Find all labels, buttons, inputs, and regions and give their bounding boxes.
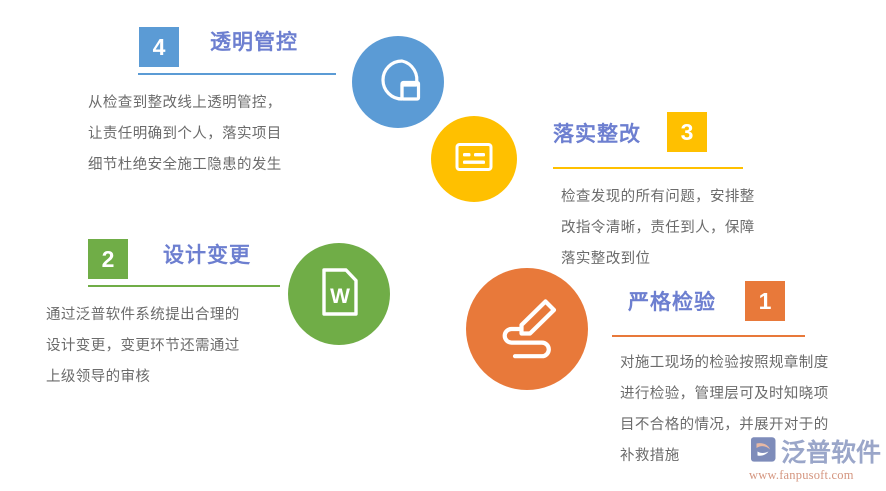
step-description-3-line-3: 落实整改到位 [561, 244, 755, 275]
step-description-2: 通过泛普软件系统提出合理的 设计变更，变更环节还需通过 上级领导的审核 [46, 300, 240, 393]
step-description-4: 从检查到整改线上透明管控， 让责任明确到个人，落实项目 细节杜绝安全施工隐患的发… [88, 88, 282, 181]
step-description-4-line-3: 细节杜绝安全施工隐患的发生 [88, 150, 282, 181]
step-title-2: 设计变更 [163, 245, 251, 266]
step-number-badge-3: 3 [667, 112, 707, 152]
step-description-4-line-1: 从检查到整改线上透明管控， [88, 88, 282, 119]
step-description-1-line-1: 对施工现场的检验按照规章制度 [620, 348, 829, 379]
watermark-brand-text: 泛普软件 [781, 440, 881, 465]
watermark-url: www.fanpusoft.com [749, 468, 882, 483]
step-description-4-line-2: 让责任明确到个人，落实项目 [88, 119, 282, 150]
pie-chart-square-icon [372, 54, 424, 111]
step-divider-2 [88, 285, 280, 287]
pencil-sign-icon [489, 289, 565, 370]
watermark-brand-row: 泛普软件 [748, 437, 882, 467]
step-description-3-line-1: 检查发现的所有问题，安排整 [561, 182, 755, 213]
step-description-3: 检查发现的所有问题，安排整 改指令清晰，责任到人，保障 落实整改到位 [561, 182, 755, 275]
step-icon-circle-4 [352, 36, 444, 128]
step-icon-circle-1 [466, 268, 588, 390]
step-icon-circle-3 [431, 116, 517, 202]
step-number-badge-2: 2 [88, 239, 128, 279]
svg-text:W: W [330, 285, 350, 308]
step-divider-1 [612, 335, 805, 337]
step-description-3-line-2: 改指令清晰，责任到人，保障 [561, 213, 755, 244]
step-description-2-line-2: 设计变更，变更环节还需通过 [46, 331, 240, 362]
step-title-4: 透明管控 [210, 32, 298, 53]
step-description-2-line-3: 上级领导的审核 [46, 362, 240, 393]
step-title-3: 落实整改 [553, 124, 641, 145]
infographic-canvas: 4 透明管控 从检查到整改线上透明管控， 让责任明确到个人，落实项目 细节杜绝安… [0, 0, 886, 491]
step-description-2-line-1: 通过泛普软件系统提出合理的 [46, 300, 240, 331]
step-title-1: 严格检验 [628, 292, 716, 313]
fanpu-logo-icon [748, 436, 778, 469]
step-description-1-line-2: 进行检验，管理层可及时知晓项 [620, 379, 829, 410]
watermark: 泛普软件 www.fanpusoft.com [748, 437, 882, 487]
word-document-icon: W [310, 263, 368, 326]
step-number-badge-4: 4 [139, 27, 179, 67]
step-divider-4 [138, 73, 336, 75]
form-card-icon [451, 134, 497, 185]
step-icon-circle-2: W [288, 243, 390, 345]
step-number-badge-1: 1 [745, 281, 785, 321]
step-divider-3 [553, 167, 743, 169]
